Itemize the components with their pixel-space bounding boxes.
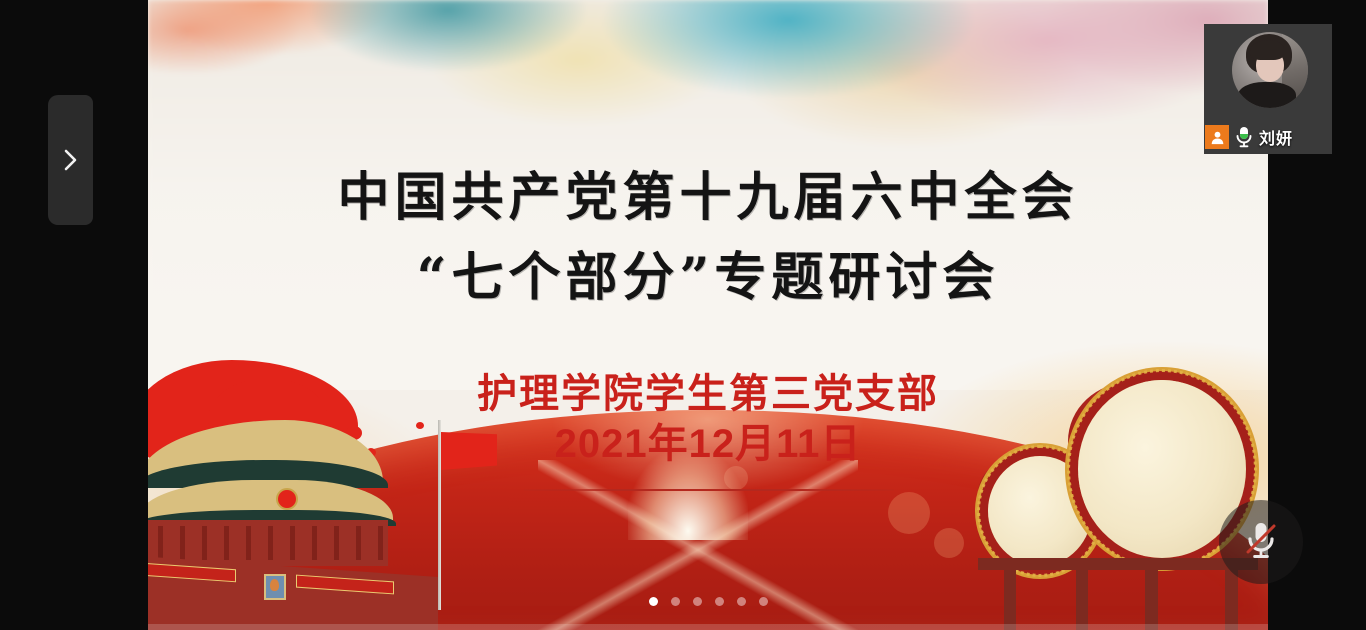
slide-subtitle: 护理学院学生第三党支部 [148,368,1268,420]
slide-title-line-1: 中国共产党第十九届六中全会 [148,158,1268,238]
pagination-dot-5[interactable] [737,597,746,606]
gate-columns [158,526,383,560]
microphone-active-icon [1233,125,1255,149]
slide-pagination[interactable] [148,597,1268,606]
meeting-screen: 中国共产党第十九届六中全会 “七个部分”专题研讨会 护理学院学生第三党支部 20… [0,0,1366,630]
microphone-muted-icon [1239,517,1283,568]
mute-toggle-button[interactable] [1219,500,1303,584]
pagination-dot-2[interactable] [671,597,680,606]
left-rail [0,0,148,630]
chevron-right-icon [62,146,80,174]
drum-stand-beam [978,558,1258,570]
participant-name: 刘妍 [1259,125,1293,149]
avatar-body [1238,82,1296,108]
slide-title: 中国共产党第十九届六中全会 “七个部分”专题研讨会 [148,158,1268,318]
slide-title-line-2: “七个部分”专题研讨会 [148,238,1268,318]
slide-date: 2021年12月11日 [148,418,1268,470]
lens-flare-1 [888,492,930,534]
lens-flare-2 [934,528,964,558]
national-emblem-icon [276,488,298,510]
bottom-toolbar-strip[interactable] [148,624,1268,630]
pagination-dot-1[interactable] [649,597,658,606]
pagination-dot-4[interactable] [715,597,724,606]
avatar [1232,32,1308,108]
participant-video-tile[interactable]: 刘妍 [1204,24,1332,154]
pagination-dot-3[interactable] [693,597,702,606]
pagination-dot-6[interactable] [759,597,768,606]
expand-panel-button[interactable] [48,95,93,225]
shared-slide[interactable]: 中国共产党第十九届六中全会 “七个部分”专题研讨会 护理学院学生第三党支部 20… [148,0,1268,630]
slide-divider [524,489,894,491]
participant-footer: 刘妍 [1204,124,1293,150]
avatar-hair-front [1250,40,1284,60]
participant-person-icon [1205,125,1229,149]
